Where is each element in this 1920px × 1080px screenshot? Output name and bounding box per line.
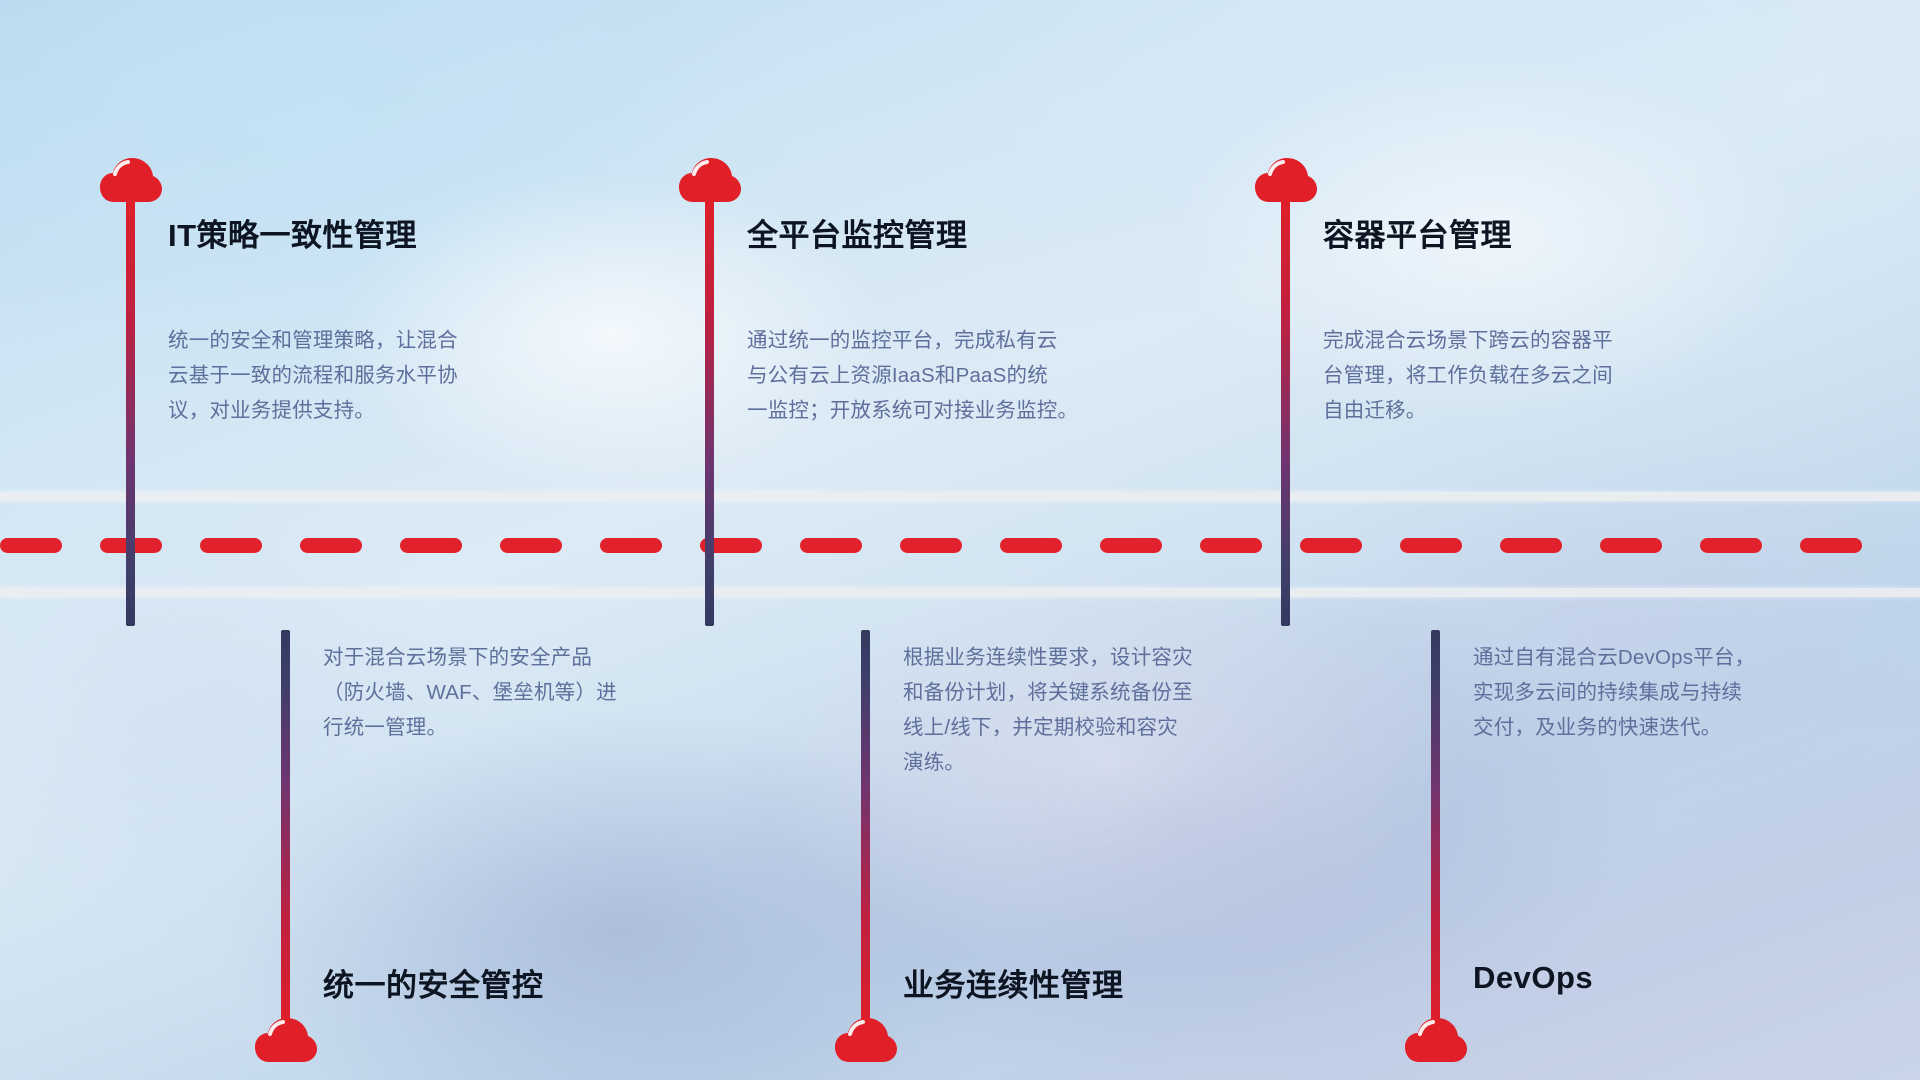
timeline-stem	[1431, 630, 1440, 1030]
column-description: 通过自有混合云DevOps平台， 实现多云间的持续集成与持续 交付，及业务的快速…	[1473, 640, 1833, 745]
road-dash	[1000, 538, 1062, 553]
column-title: DevOps	[1473, 960, 1593, 996]
road-dash	[300, 538, 362, 553]
road-dash	[0, 538, 62, 553]
road-dashed-center-line	[0, 537, 1920, 553]
infographic-canvas: IT策略一致性管理 统一的安全和管理策略，让混合 云基于一致的流程和服务水平协 …	[0, 0, 1920, 1080]
road-dash	[1200, 538, 1262, 553]
road-edge-bottom	[0, 588, 1920, 597]
road-dash	[1300, 538, 1362, 553]
column-title: 容器平台管理	[1323, 210, 1512, 255]
column-description: 通过统一的监控平台，完成私有云 与公有云上资源IaaS和PaaS的统 一监控；开…	[747, 323, 1107, 428]
road-edge-top	[0, 492, 1920, 501]
cloud-pin-icon	[835, 1018, 897, 1064]
cloud-pin-icon	[255, 1018, 317, 1064]
column-title: 全平台监控管理	[747, 210, 968, 255]
road-dash	[500, 538, 562, 553]
column-description: 对于混合云场景下的安全产品 （防火墙、WAF、堡垒机等）进 行统一管理。	[323, 640, 683, 745]
timeline-stem	[861, 630, 870, 1030]
column-description: 根据业务连续性要求，设计容灾 和备份计划，将关键系统备份至 线上/线下，并定期校…	[903, 640, 1263, 780]
road-dash	[1100, 538, 1162, 553]
road-dash	[1700, 538, 1762, 553]
column-title: 统一的安全管控	[323, 960, 544, 1005]
road-dash	[600, 538, 662, 553]
column-description: 统一的安全和管理策略，让混合 云基于一致的流程和服务水平协 议，对业务提供支持。	[168, 323, 528, 428]
timeline-stem	[281, 630, 290, 1030]
cloud-pin-icon	[1405, 1018, 1467, 1064]
road-dash	[1800, 538, 1862, 553]
column-title: 业务连续性管理	[903, 960, 1124, 1005]
road-dash	[800, 538, 862, 553]
timeline-stem	[1281, 196, 1290, 626]
road-dash	[1500, 538, 1562, 553]
timeline-stem	[126, 196, 135, 626]
timeline-stem	[705, 196, 714, 626]
road-dash	[200, 538, 262, 553]
road-dash	[1600, 538, 1662, 553]
road-dash	[1400, 538, 1462, 553]
road-dash	[900, 538, 962, 553]
column-title: IT策略一致性管理	[168, 210, 417, 255]
column-description: 完成混合云场景下跨云的容器平 台管理，将工作负载在多云之间 自由迁移。	[1323, 323, 1683, 428]
road-dash	[400, 538, 462, 553]
